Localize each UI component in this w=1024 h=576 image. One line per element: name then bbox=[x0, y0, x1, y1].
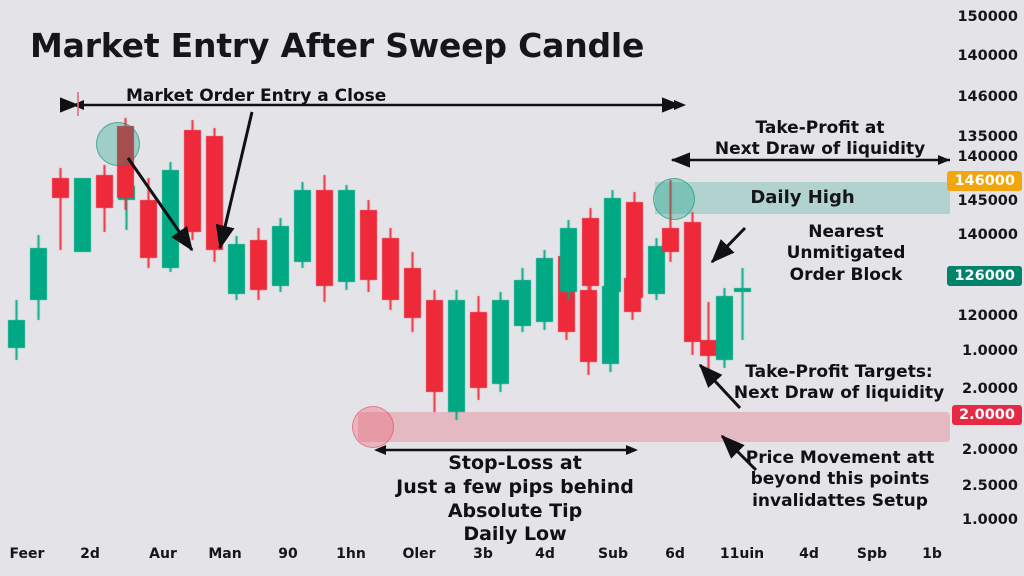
daily-high-label: Daily High bbox=[655, 187, 950, 208]
price-tick: 2.0000 bbox=[962, 381, 1018, 397]
time-tick: 2d bbox=[80, 546, 100, 562]
time-tick: Oler bbox=[402, 546, 435, 562]
time-axis[interactable]: Feer2dAurMan901hnOler3b4dSub6d11uin4dSpb… bbox=[0, 536, 1024, 576]
time-tick: Sub bbox=[598, 546, 628, 562]
time-tick: 1b bbox=[922, 546, 942, 562]
price-tick: 2.5000 bbox=[962, 478, 1018, 494]
price-tick: 140000 bbox=[957, 227, 1018, 243]
time-tick: Feer bbox=[10, 546, 45, 562]
take-profit-top-label: Take-Profit at Next Draw of liquidity bbox=[700, 118, 940, 161]
invalidation-label: Price Movement att beyond this points in… bbox=[730, 448, 950, 512]
take-profit-targets-label: Take-Profit Targets: Next Draw of liquid… bbox=[730, 362, 948, 405]
time-tick: 6d bbox=[665, 546, 685, 562]
time-tick: 4d bbox=[799, 546, 819, 562]
price-tick: 145000 bbox=[957, 193, 1018, 209]
chart-screenshot: Market Entry After Sweep Candle bbox=[0, 0, 1024, 576]
price-tick: 150000 bbox=[957, 9, 1018, 25]
price-tick: 135000 bbox=[957, 129, 1018, 145]
price-axis[interactable]: 1500001400001460001350001400001460001450… bbox=[950, 0, 1024, 534]
stop-loss-label: Stop-Loss at Just a few pips behind Abso… bbox=[360, 452, 670, 547]
time-tick: Aur bbox=[149, 546, 177, 562]
price-tick: 2.0000 bbox=[962, 442, 1018, 458]
price-tick: 2.0000 bbox=[952, 405, 1022, 425]
price-tick: 120000 bbox=[957, 308, 1018, 324]
time-tick: Man bbox=[208, 546, 241, 562]
time-tick: 3b bbox=[473, 546, 493, 562]
market-order-label: Market Order Entry a Close bbox=[126, 86, 386, 107]
price-tick: 1.0000 bbox=[962, 343, 1018, 359]
time-tick: 90 bbox=[278, 546, 297, 562]
price-tick: 140000 bbox=[957, 149, 1018, 165]
time-tick: 1hn bbox=[336, 546, 366, 562]
price-tick: 1.0000 bbox=[962, 512, 1018, 528]
price-tick: 146000 bbox=[947, 171, 1022, 191]
time-tick: Spb bbox=[857, 546, 887, 562]
price-tick: 126000 bbox=[947, 266, 1022, 286]
price-tick: 140000 bbox=[957, 48, 1018, 64]
price-tick: 146000 bbox=[957, 89, 1018, 105]
time-tick: 4d bbox=[535, 546, 555, 562]
time-tick: 11uin bbox=[720, 546, 764, 562]
order-block-label: Nearest Unmitigated Order Block bbox=[746, 222, 946, 286]
